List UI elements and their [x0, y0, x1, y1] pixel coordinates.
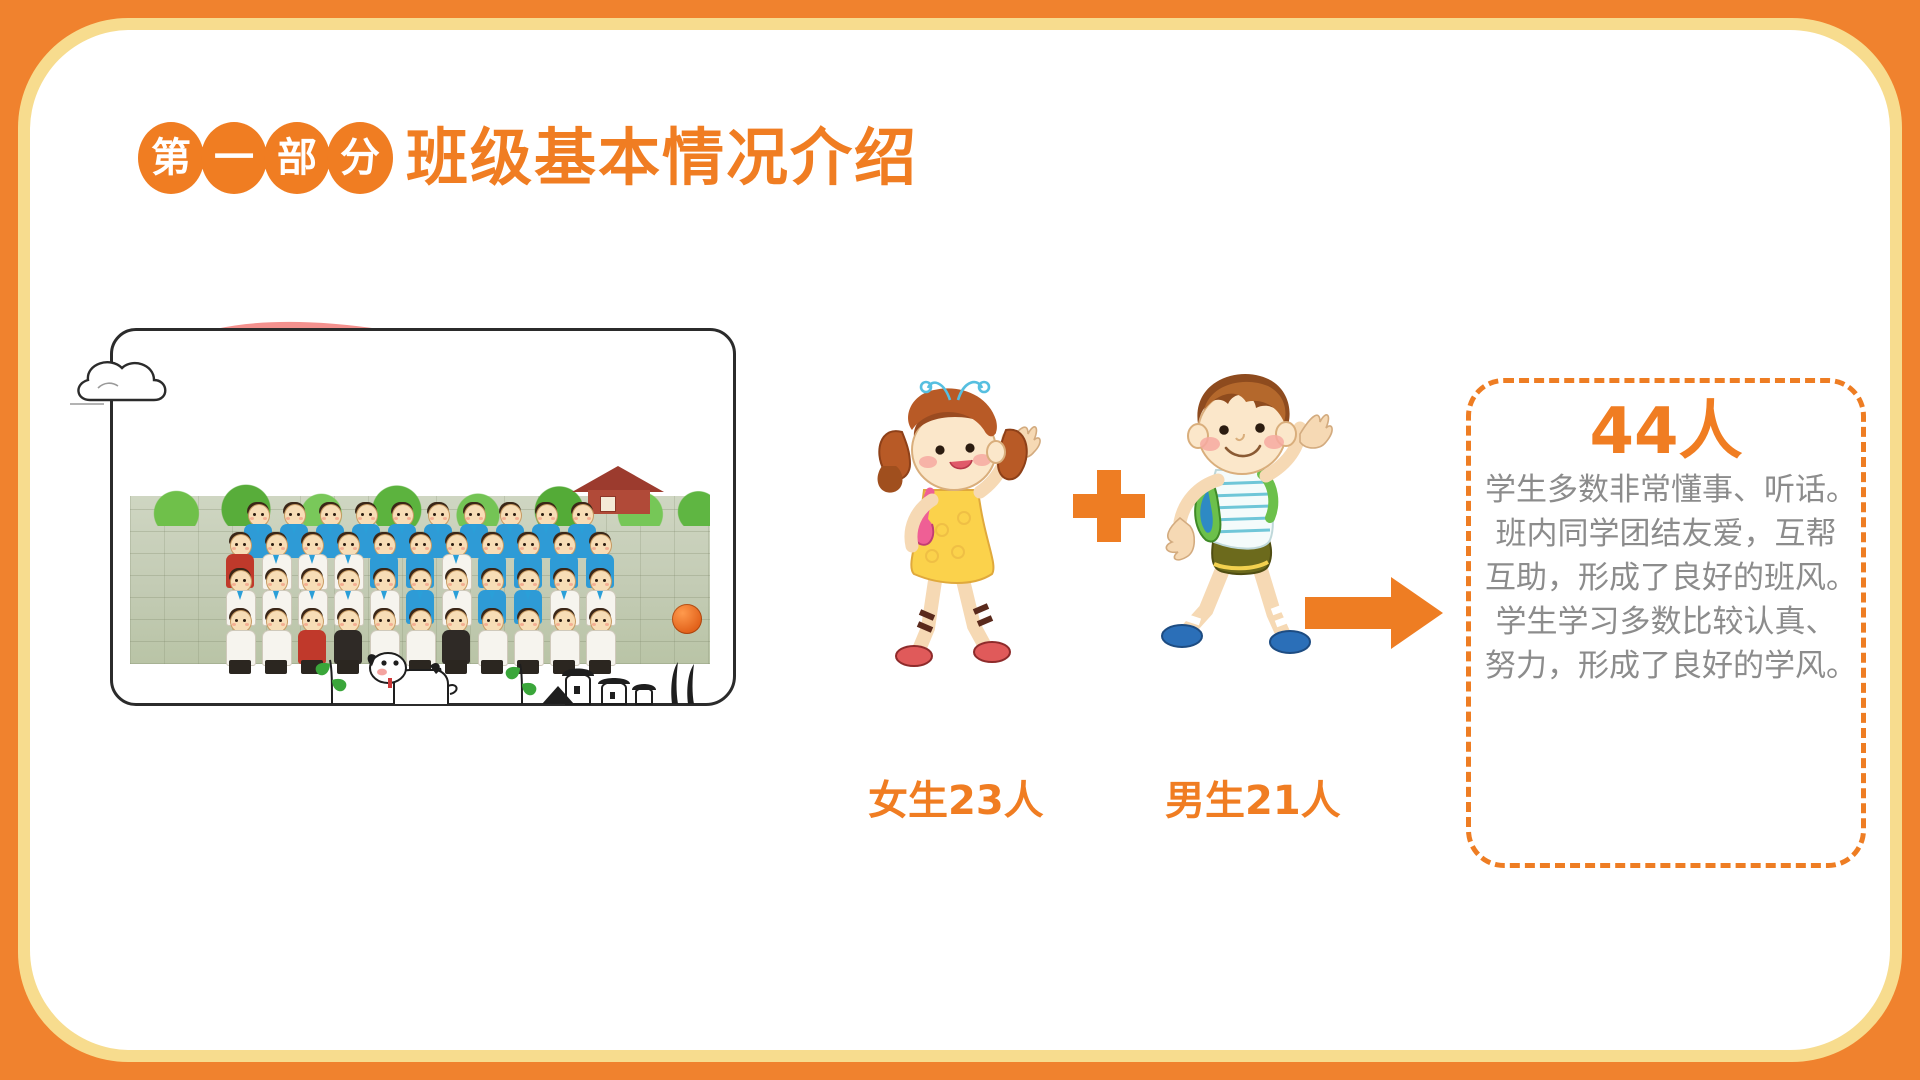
slide-white-canvas: 第 一 部 分 班级基本情况介绍 [30, 30, 1890, 1050]
info-line-5: 努力，形成了良好的学风。 [1485, 644, 1847, 688]
page-title: 第 一 部 分 班级基本情况介绍 [138, 122, 918, 194]
info-line-4: 学生学习多数比较认真、 [1485, 600, 1847, 644]
girl-illustration [858, 360, 1058, 670]
title-badge-3: 部 [264, 122, 330, 194]
info-line-1: 学生多数非常懂事、听话。 [1485, 468, 1847, 512]
bottom-doodles [142, 636, 702, 706]
title-badge-1: 第 [138, 122, 204, 194]
girls-count-label: 女生23人 [868, 768, 1044, 826]
class-photo-frame [92, 312, 752, 712]
total-students-value: 44人 [1485, 399, 1847, 466]
title-heading: 班级基本情况介绍 [406, 127, 918, 189]
village-doodle [542, 662, 694, 704]
cloud-icon [70, 338, 210, 418]
plus-icon [1073, 470, 1145, 542]
dog-doodle [368, 653, 457, 704]
boys-count-label: 男生21人 [1165, 768, 1341, 826]
arrow-right-icon [1305, 575, 1445, 651]
info-line-3: 互助，形成了良好的班风。 [1485, 556, 1847, 600]
slide-root: 第 一 部 分 班级基本情况介绍 [0, 0, 1920, 1080]
class-summary-box: 44人 学生多数非常懂事、听话。 班内同学团结友爱，互帮 互助，形成了良好的班风… [1466, 378, 1866, 868]
title-badge-4: 分 [327, 122, 393, 194]
title-badge-2: 一 [201, 122, 267, 194]
info-line-2: 班内同学团结友爱，互帮 [1485, 512, 1847, 556]
